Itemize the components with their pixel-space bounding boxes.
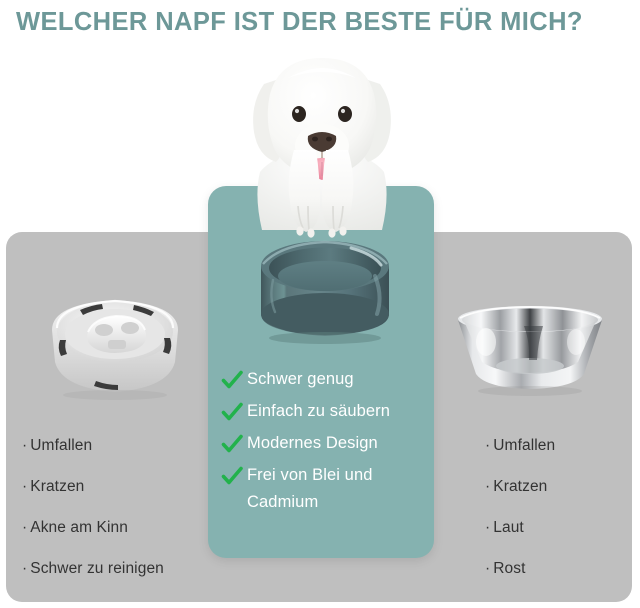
comparison-infographic: WELCHER NAPF IST DER BESTE FÜR MICH? bbox=[0, 0, 640, 608]
green-check-icon bbox=[220, 463, 244, 489]
stainless-steel-dog-bowl-image bbox=[452, 296, 608, 396]
pros-list-item: Schwer genug bbox=[220, 366, 432, 393]
cons-list-item: ·Rost bbox=[485, 559, 635, 579]
cons-list-item-label: Akne am Kinn bbox=[30, 519, 128, 536]
page-title: WELCHER NAPF IST DER BESTE FÜR MICH? bbox=[16, 6, 636, 39]
cons-list-item: ·Umfallen bbox=[22, 436, 202, 456]
cons-list-item: ·Umfallen bbox=[485, 436, 635, 456]
pros-list-item-label: Einfach zu säubern bbox=[247, 398, 390, 425]
pros-list-item-label: Schwer genug bbox=[247, 366, 354, 393]
ceramic-dog-bowl-image bbox=[251, 232, 399, 354]
bullet-icon: · bbox=[485, 437, 490, 454]
plastic-slow-feeder-bowl-image bbox=[42, 288, 188, 400]
cons-list-item-label: Kratzen bbox=[30, 478, 84, 495]
green-check-icon bbox=[220, 431, 244, 457]
green-check-icon bbox=[220, 399, 244, 425]
cons-list-item-label: Umfallen bbox=[30, 437, 92, 454]
green-check-icon bbox=[220, 367, 244, 393]
cons-list-item-label: Rost bbox=[493, 560, 525, 577]
pros-list-item-label: Frei von Blei und Cadmium bbox=[247, 462, 432, 515]
bullet-icon: · bbox=[485, 478, 490, 495]
cons-list-item: ·Kratzen bbox=[485, 477, 635, 497]
cons-list-item-label: Umfallen bbox=[493, 437, 555, 454]
bullet-icon: · bbox=[22, 560, 27, 577]
right-cons-list: ·Umfallen ·Kratzen ·Laut ·Rost bbox=[485, 436, 635, 601]
pros-list-item: Modernes Design bbox=[220, 430, 432, 457]
cons-list-item-label: Schwer zu reinigen bbox=[30, 560, 164, 577]
bullet-icon: · bbox=[485, 560, 490, 577]
pros-list-item-label: Modernes Design bbox=[247, 430, 378, 457]
bullet-icon: · bbox=[485, 519, 490, 536]
cons-list-item: ·Schwer zu reinigen bbox=[22, 559, 202, 579]
cons-list-item: ·Kratzen bbox=[22, 477, 202, 497]
bullet-icon: · bbox=[22, 437, 27, 454]
dog-photo bbox=[236, 44, 408, 230]
left-cons-list: ·Umfallen ·Kratzen ·Akne am Kinn ·Schwer… bbox=[22, 436, 202, 601]
cons-list-item-label: Laut bbox=[493, 519, 524, 536]
cons-list-item: ·Laut bbox=[485, 518, 635, 538]
bullet-icon: · bbox=[22, 478, 27, 495]
pros-list-item: Frei von Blei und Cadmium bbox=[220, 462, 432, 515]
cons-list-item-label: Kratzen bbox=[493, 478, 547, 495]
bullet-icon: · bbox=[22, 519, 27, 536]
pros-list: Schwer genug Einfach zu säubern Modernes… bbox=[220, 366, 432, 520]
cons-list-item: ·Akne am Kinn bbox=[22, 518, 202, 538]
pros-list-item: Einfach zu säubern bbox=[220, 398, 432, 425]
